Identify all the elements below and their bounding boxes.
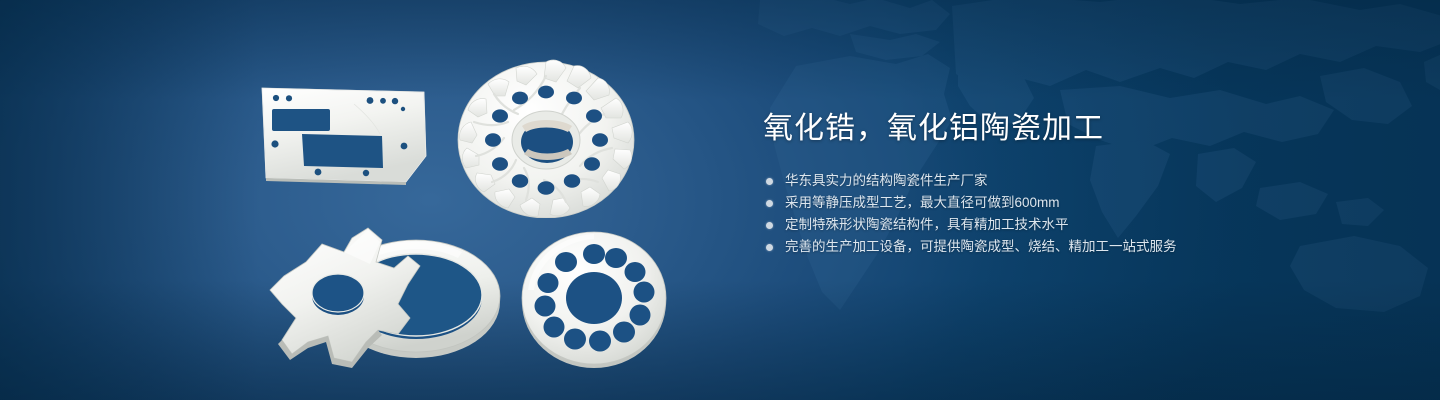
- ceramic-impeller: [452, 48, 640, 218]
- list-item: 采用等静压成型工艺，最大直径可做到600mm: [763, 192, 1363, 214]
- list-item-label: 采用等静压成型工艺，最大直径可做到600mm: [785, 195, 1060, 210]
- ceramic-plate: [256, 82, 432, 194]
- ceramic-products-photo: [0, 0, 720, 400]
- bullet-dot-icon: [766, 244, 773, 251]
- bullet-dot-icon: [766, 178, 773, 185]
- banner-copy: 氧化锆，氧化铝陶瓷加工 华东具实力的结构陶瓷件生产厂家 采用等静压成型工艺，最大…: [763, 108, 1363, 258]
- feature-list: 华东具实力的结构陶瓷件生产厂家 采用等静压成型工艺，最大直径可做到600mm 定…: [763, 170, 1363, 258]
- list-item: 完善的生产加工设备，可提供陶瓷成型、烧结、精加工一站式服务: [763, 236, 1363, 258]
- ceramic-product-banner: 氧化锆，氧化铝陶瓷加工 华东具实力的结构陶瓷件生产厂家 采用等静压成型工艺，最大…: [0, 0, 1440, 400]
- list-item-label: 完善的生产加工设备，可提供陶瓷成型、烧结、精加工一站式服务: [785, 239, 1177, 254]
- list-item-label: 定制特殊形状陶瓷结构件，具有精加工技术水平: [785, 217, 1069, 232]
- list-item-label: 华东具实力的结构陶瓷件生产厂家: [785, 173, 988, 188]
- ceramic-perforated-disc: [518, 228, 670, 368]
- page-title: 氧化锆，氧化铝陶瓷加工: [763, 108, 1363, 150]
- ceramic-cross-and-ring: [248, 222, 516, 370]
- list-item: 华东具实力的结构陶瓷件生产厂家: [763, 170, 1363, 192]
- list-item: 定制特殊形状陶瓷结构件，具有精加工技术水平: [763, 214, 1363, 236]
- bullet-dot-icon: [766, 222, 773, 229]
- bullet-dot-icon: [766, 200, 773, 207]
